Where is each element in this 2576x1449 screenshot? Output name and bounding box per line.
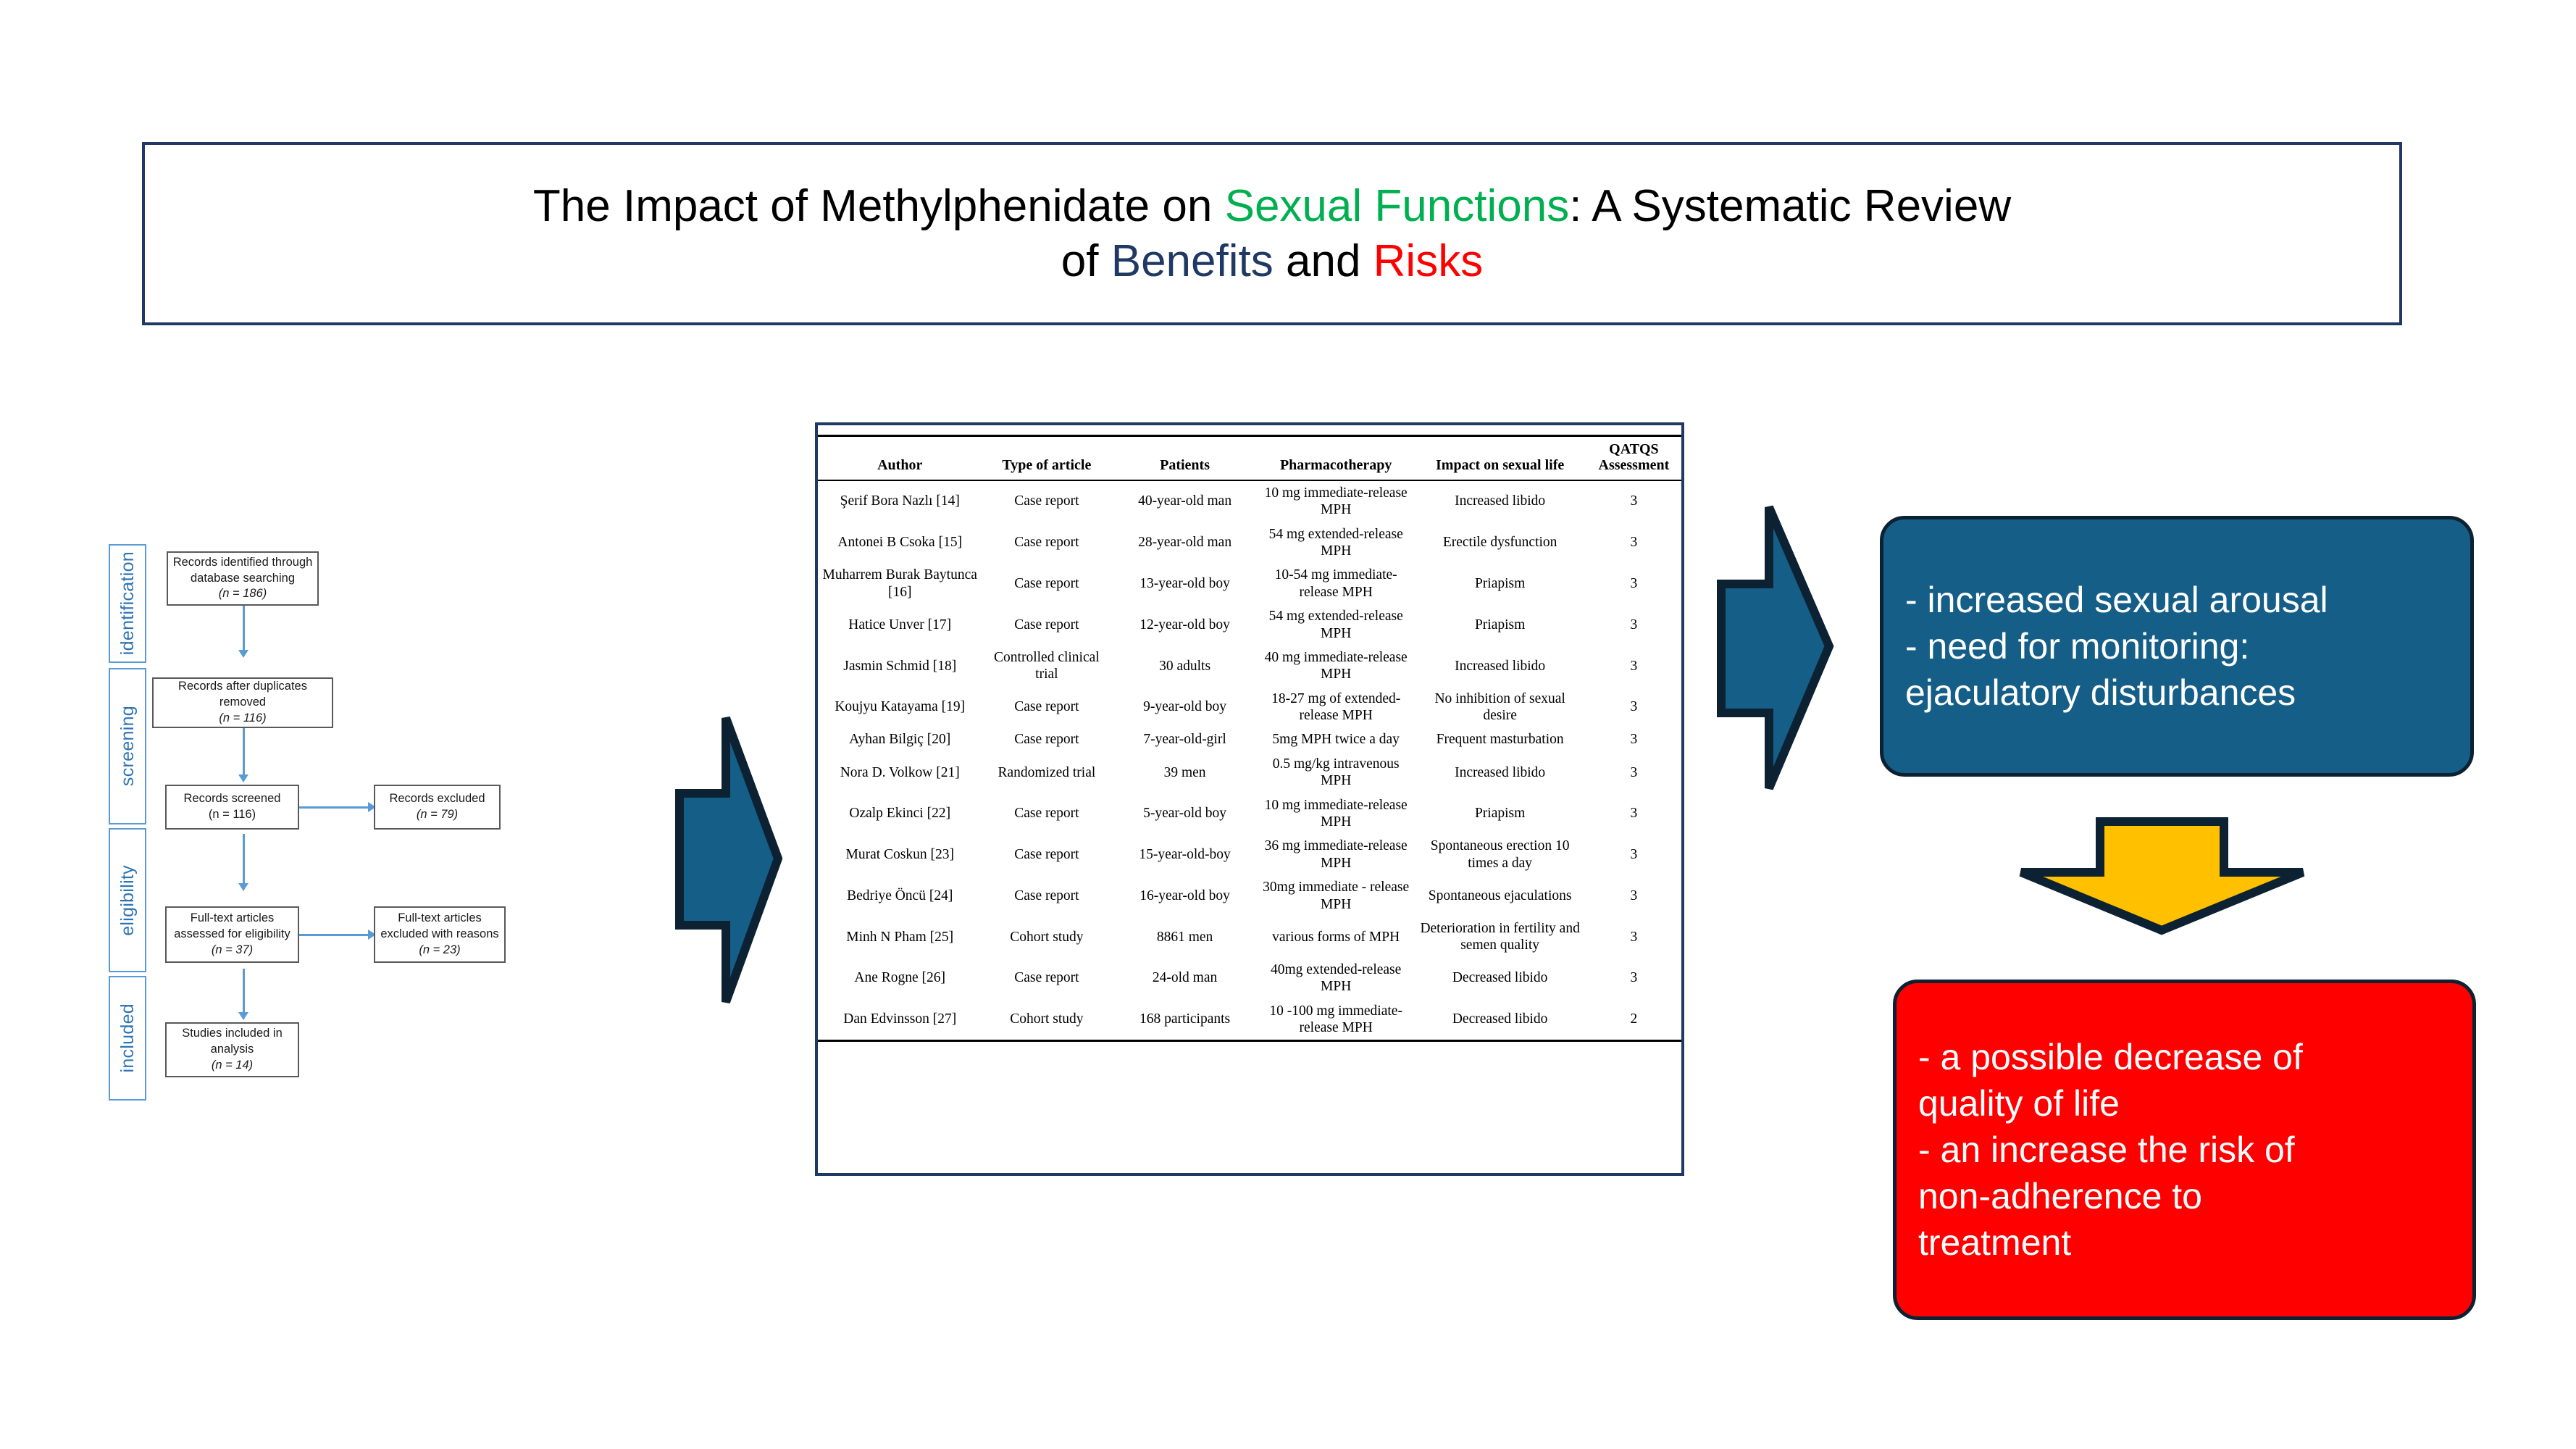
table-body: Şerif Bora Nazlı [14]Case report40-year-…: [818, 480, 1681, 1041]
risks-line-2: quality of life: [1918, 1080, 2303, 1127]
prisma-box-count: (n = 37): [212, 943, 253, 956]
cell-type: Case report: [982, 834, 1111, 875]
table-row: Dan Edvinsson [27]Cohort study168 partic…: [818, 999, 1681, 1041]
cell-pharmacotherapy: various forms of MPH: [1258, 916, 1414, 958]
cell-author: Muharrem Burak Baytunca [16]: [818, 563, 982, 604]
table-row: Bedriye Öncü [24]Case report16-year-old …: [818, 875, 1681, 916]
benefits-line-1: - increased sexual arousal: [1905, 577, 2328, 623]
prisma-box-line: analysis: [211, 1043, 254, 1056]
cell-qatqs: 2: [1586, 999, 1681, 1041]
prisma-arrowhead-3: [238, 883, 248, 891]
cell-author: Ozalp Ekinci [22]: [818, 793, 982, 835]
cell-impact: No inhibition of sexual desire: [1413, 687, 1586, 728]
cell-author: Şerif Bora Nazlı [14]: [818, 480, 982, 522]
cell-pharmacotherapy: 10-54 mg immediate-release MPH: [1258, 563, 1414, 604]
prisma-box-count: (n = 79): [417, 808, 458, 821]
prisma-box-line: Records screened: [184, 792, 281, 805]
cell-impact: Deterioration in fertility and semen qua…: [1413, 916, 1586, 958]
cell-qatqs: 3: [1586, 687, 1681, 728]
prisma-box-line: excluded with reasons: [380, 927, 498, 940]
cell-patients: 13-year-old boy: [1111, 563, 1258, 604]
cell-patients: 5-year-old boy: [1111, 793, 1258, 835]
title-part-4: and: [1274, 236, 1373, 286]
cell-pharmacotherapy: 40 mg immediate-release MPH: [1258, 646, 1414, 687]
table-row: Antonei B Csoka [15]Case report28-year-o…: [818, 522, 1681, 564]
cell-qatqs: 3: [1586, 958, 1681, 999]
cell-qatqs: 3: [1586, 834, 1681, 875]
prisma-stage-screening: screening: [109, 668, 146, 824]
prisma-box-count: (n = 116): [209, 808, 256, 821]
prisma-arrowhead-1: [238, 650, 248, 658]
cell-patients: 8861 men: [1111, 916, 1258, 958]
benefits-line-3: ejaculatory disturbances: [1905, 669, 2328, 716]
prisma-box-count: (n = 186): [219, 587, 267, 600]
title-part-2: : A Systematic Review: [1569, 181, 2011, 231]
risks-line-1: - a possible decrease of: [1918, 1034, 2303, 1080]
cell-impact: Priapism: [1413, 604, 1586, 646]
cell-patients: 39 men: [1111, 752, 1258, 793]
cell-type: Case report: [982, 727, 1111, 751]
page-title: The Impact of Methylphenidate on Sexual …: [511, 179, 2033, 288]
cell-patients: 28-year-old man: [1111, 522, 1258, 564]
cell-type: Randomized trial: [982, 752, 1111, 793]
prisma-box-line: Records identified through: [173, 556, 313, 569]
cell-impact: Spontaneous ejaculations: [1413, 875, 1586, 916]
prisma-box-count: (n = 23): [419, 943, 460, 956]
prisma-stage-identification: identification: [109, 544, 146, 663]
table-col-patients: Patients: [1111, 436, 1258, 480]
table-row: Nora D. Volkow [21]Randomized trial39 me…: [818, 752, 1681, 793]
table-header: Author Type of article Patients Pharmaco…: [818, 436, 1681, 480]
prisma-connector-4: [243, 969, 245, 1014]
cell-impact: Priapism: [1413, 563, 1586, 604]
cell-impact: Erectile dysfunction: [1413, 522, 1586, 564]
cell-patients: 30 adults: [1111, 646, 1258, 687]
cell-qatqs: 3: [1586, 875, 1681, 916]
cell-qatqs: 3: [1586, 752, 1681, 793]
prisma-stage-label: eligibility: [117, 865, 138, 936]
arrow-right-table-to-benefits: [1715, 503, 1835, 793]
arrow-down-benefits-to-risks: [2015, 816, 2309, 935]
prisma-box-records-excluded: Records excluded (n = 79): [374, 785, 501, 830]
prisma-box-line: Studies included in: [182, 1027, 283, 1040]
cell-author: Hatice Unver [17]: [818, 604, 982, 646]
cell-patients: 16-year-old boy: [1111, 875, 1258, 916]
cell-impact: Decreased libido: [1413, 999, 1586, 1041]
table-row: Muharrem Burak Baytunca [16]Case report1…: [818, 563, 1681, 604]
cell-pharmacotherapy: 10 mg immediate-release MPH: [1258, 793, 1414, 835]
cell-type: Cohort study: [982, 999, 1111, 1041]
title-part-1: The Impact of Methylphenidate on: [533, 181, 1225, 231]
cell-pharmacotherapy: 0.5 mg/kg intravenous MPH: [1258, 752, 1414, 793]
risks-text: - a possible decrease of quality of life…: [1897, 1034, 2325, 1266]
cell-pharmacotherapy: 18-27 mg of extended-release MPH: [1258, 687, 1414, 728]
cell-impact: Increased libido: [1413, 480, 1586, 522]
cell-qatqs: 3: [1586, 916, 1681, 958]
cell-qatqs: 3: [1586, 793, 1681, 835]
prisma-box-line: Full-text articles: [191, 911, 275, 924]
cell-impact: Increased libido: [1413, 646, 1586, 687]
cell-author: Murat Coskun [23]: [818, 834, 982, 875]
table-col-qatqs-line2: Assessment: [1599, 457, 1670, 473]
cell-author: Ayhan Bilgiç [20]: [818, 727, 982, 751]
cell-pharmacotherapy: 5mg MPH twice a day: [1258, 727, 1414, 751]
evidence-table: Author Type of article Patients Pharmaco…: [818, 435, 1681, 1042]
cell-qatqs: 3: [1586, 480, 1681, 522]
title-part-3: of: [1061, 236, 1111, 286]
benefits-result-box: - increased sexual arousal - need for mo…: [1880, 516, 2474, 777]
prisma-stage-label: screening: [117, 706, 138, 786]
cell-type: Case report: [982, 687, 1111, 728]
benefits-text: - increased sexual arousal - need for mo…: [1883, 577, 2350, 716]
prisma-box-fulltext-excluded: Full-text articles excluded with reasons…: [374, 906, 506, 963]
cell-pharmacotherapy: 54 mg extended-release MPH: [1258, 604, 1414, 646]
prisma-box-line: Records after duplicates removed: [178, 680, 307, 709]
cell-type: Case report: [982, 563, 1111, 604]
cell-author: Nora D. Volkow [21]: [818, 752, 982, 793]
title-highlight-risks: Risks: [1373, 236, 1484, 286]
prisma-box-count: (n = 116): [219, 711, 266, 724]
table-row: Koujyu Katayama [19]Case report9-year-ol…: [818, 687, 1681, 728]
prisma-connector-excluded-2: [299, 934, 369, 936]
table-row: Ane Rogne [26]Case report24-old man40mg …: [818, 958, 1681, 999]
cell-impact: Spontaneous erection 10 times a day: [1413, 834, 1586, 875]
prisma-box-studies-included: Studies included in analysis (n = 14): [165, 1022, 299, 1077]
cell-author: Dan Edvinsson [27]: [818, 999, 982, 1041]
cell-type: Case report: [982, 480, 1111, 522]
cell-impact: Increased libido: [1413, 752, 1586, 793]
title-highlight-benefits: Benefits: [1111, 236, 1274, 286]
prisma-connector-1: [243, 605, 245, 651]
prisma-box-records-screened: Records screened (n = 116): [165, 785, 299, 830]
cell-type: Case report: [982, 958, 1111, 999]
risks-result-box: - a possible decrease of quality of life…: [1893, 980, 2476, 1320]
prisma-box-count: (n = 14): [212, 1058, 253, 1072]
table-row: Ozalp Ekinci [22]Case report5-year-old b…: [818, 793, 1681, 835]
cell-patients: 168 participants: [1111, 999, 1258, 1041]
cell-impact: Priapism: [1413, 793, 1586, 835]
cell-type: Case report: [982, 875, 1111, 916]
cell-qatqs: 3: [1586, 727, 1681, 751]
cell-type: Case report: [982, 522, 1111, 564]
prisma-box-line: Records excluded: [389, 792, 485, 805]
cell-type: Case report: [982, 604, 1111, 646]
cell-type: Case report: [982, 793, 1111, 835]
table-col-pharmacotherapy: Pharmacotherapy: [1258, 436, 1414, 480]
prisma-connector-3: [243, 834, 245, 885]
table-col-qatqs-line1: QATQS: [1609, 441, 1659, 457]
cell-author: Bedriye Öncü [24]: [818, 875, 982, 916]
cell-type: Cohort study: [982, 916, 1111, 958]
table-row: Şerif Bora Nazlı [14]Case report40-year-…: [818, 480, 1681, 522]
prisma-box-after-duplicates: Records after duplicates removed (n = 11…: [152, 677, 333, 728]
cell-qatqs: 3: [1586, 522, 1681, 564]
prisma-stage-included: included: [109, 976, 146, 1101]
prisma-box-fulltext-assessed: Full-text articles assessed for eligibil…: [165, 906, 299, 963]
cell-pharmacotherapy: 10 mg immediate-release MPH: [1258, 480, 1414, 522]
cell-pharmacotherapy: 54 mg extended-release MPH: [1258, 522, 1414, 564]
cell-type: Controlled clinical trial: [982, 646, 1111, 687]
cell-patients: 12-year-old boy: [1111, 604, 1258, 646]
prisma-box-records-identified: Records identified through database sear…: [167, 551, 319, 606]
table-row: Minh N Pham [25]Cohort study8861 menvari…: [818, 916, 1681, 958]
table-row: Murat Coskun [23]Case report15-year-old-…: [818, 834, 1681, 875]
cell-pharmacotherapy: 30mg immediate - release MPH: [1258, 875, 1414, 916]
title-highlight-sexual-functions: Sexual Functions: [1225, 181, 1570, 231]
cell-author: Jasmin Schmid [18]: [818, 646, 982, 687]
table-row: Ayhan Bilgiç [20]Case report7-year-old-g…: [818, 727, 1681, 751]
cell-qatqs: 3: [1586, 646, 1681, 687]
prisma-box-line: Full-text articles: [398, 911, 482, 924]
prisma-stage-label: identification: [117, 551, 138, 655]
risks-line-4: non-adherence to: [1918, 1173, 2303, 1219]
cell-impact: Decreased libido: [1413, 958, 1586, 999]
table-col-author: Author: [818, 436, 982, 480]
cell-patients: 7-year-old-girl: [1111, 727, 1258, 751]
prisma-box-line: assessed for eligibility: [174, 927, 290, 940]
risks-line-3: - an increase the risk of: [1918, 1127, 2303, 1173]
cell-patients: 9-year-old boy: [1111, 687, 1258, 728]
cell-patients: 15-year-old-boy: [1111, 834, 1258, 875]
cell-pharmacotherapy: 10 -100 mg immediate-release MPH: [1258, 999, 1414, 1041]
cell-impact: Frequent masturbation: [1413, 727, 1586, 751]
cell-author: Antonei B Csoka [15]: [818, 522, 982, 564]
table-col-type: Type of article: [982, 436, 1111, 480]
prisma-arrowhead-2: [238, 774, 248, 782]
evidence-table-frame: Author Type of article Patients Pharmaco…: [815, 422, 1684, 1176]
prisma-box-line: database searching: [191, 572, 295, 585]
cell-author: Minh N Pham [25]: [818, 916, 982, 958]
table-row: Hatice Unver [17]Case report12-year-old …: [818, 604, 1681, 646]
cell-pharmacotherapy: 36 mg immediate-release MPH: [1258, 834, 1414, 875]
benefits-line-2: - need for monitoring:: [1905, 623, 2328, 669]
prisma-flow-diagram: identification screening eligibility inc…: [109, 540, 695, 1134]
table-col-impact: Impact on sexual life: [1413, 436, 1586, 480]
prisma-connector-excluded-1: [299, 806, 369, 809]
cell-author: Koujyu Katayama [19]: [818, 687, 982, 728]
cell-qatqs: 3: [1586, 563, 1681, 604]
prisma-stage-label: included: [117, 1003, 138, 1073]
cell-patients: 24-old man: [1111, 958, 1258, 999]
prisma-stage-eligibility: eligibility: [109, 828, 146, 972]
table-row: Jasmin Schmid [18]Controlled clinical tr…: [818, 646, 1681, 687]
cell-author: Ane Rogne [26]: [818, 958, 982, 999]
prisma-connector-2: [243, 727, 245, 776]
cell-patients: 40-year-old man: [1111, 480, 1258, 522]
cell-qatqs: 3: [1586, 604, 1681, 646]
cell-pharmacotherapy: 40mg extended-release MPH: [1258, 958, 1414, 999]
table-col-qatqs: QATQS Assessment: [1586, 436, 1681, 480]
arrow-right-flow-to-table: [674, 714, 782, 1007]
poster-title-box: The Impact of Methylphenidate on Sexual …: [142, 142, 2402, 325]
risks-line-5: treatment: [1918, 1219, 2303, 1266]
prisma-arrowhead-4: [238, 1012, 248, 1020]
